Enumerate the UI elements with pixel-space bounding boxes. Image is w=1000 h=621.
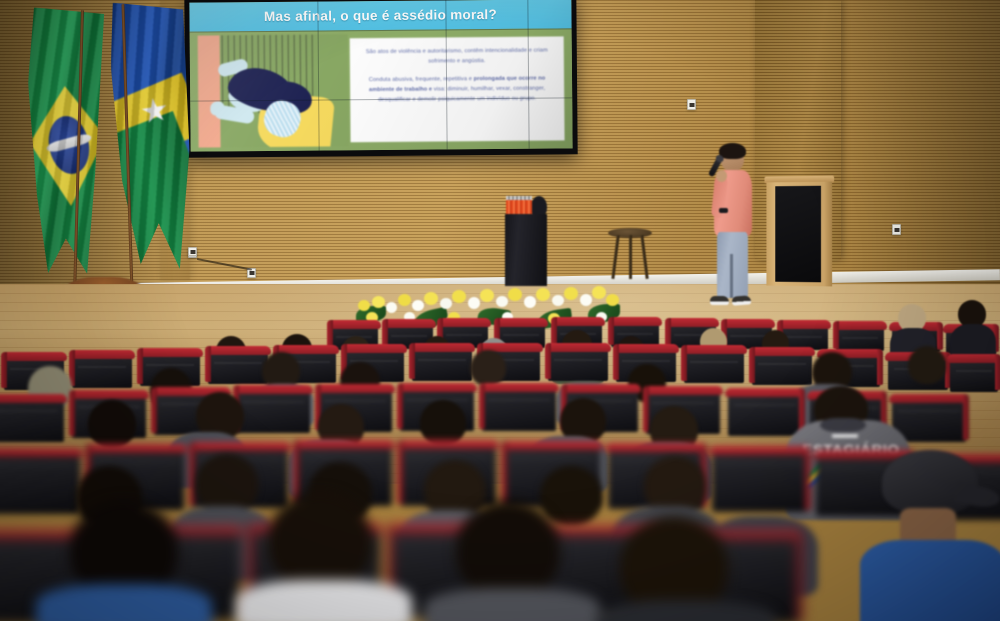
audience-torso: [36, 584, 212, 621]
presenter: [706, 146, 758, 308]
audience-blue-shirt: [860, 540, 1000, 621]
illustration-hand: [210, 101, 224, 115]
wall-outlet-plate-5: [687, 99, 696, 110]
presenter-watch: [719, 208, 728, 213]
audience-head: [908, 346, 946, 384]
flower: [580, 294, 592, 306]
slide-text-card: São atos de violência e autoritarismo, c…: [350, 36, 565, 142]
seat[interactable]: [684, 349, 744, 383]
auditorium-scene: Mas afinal, o que é assédio moral? S: [0, 0, 1000, 621]
audience-torso: [424, 588, 600, 621]
seat[interactable]: [712, 450, 808, 512]
flower: [552, 295, 564, 306]
audience-head: [88, 400, 136, 448]
flower: [440, 298, 452, 309]
audience-head: [196, 454, 258, 514]
seat[interactable]: [950, 358, 998, 392]
side-table-leg-3: [640, 235, 648, 279]
slide-paragraph-1: São atos de violência e autoritarismo, c…: [350, 36, 564, 68]
side-table-leg-2: [629, 235, 632, 279]
seat[interactable]: [752, 351, 812, 385]
flower: [412, 300, 424, 311]
wall-outlet-plate-7: [188, 247, 197, 256]
seat[interactable]: [236, 389, 310, 433]
flower: [386, 302, 397, 313]
flower: [508, 288, 522, 301]
podium-front-panel: [775, 186, 821, 283]
flower: [524, 296, 536, 308]
slide-body: São atos de violência e autoritarismo, c…: [190, 28, 573, 151]
round-side-table: [608, 228, 652, 280]
intern-collar: [820, 418, 866, 432]
slide-title-bar: Mas afinal, o que é assédio moral?: [189, 0, 571, 32]
wooden-podium: [766, 176, 832, 287]
seat[interactable]: [208, 350, 268, 384]
cabinet-body: [505, 214, 547, 286]
video-wall-display[interactable]: Mas afinal, o que é assédio moral? S: [184, 0, 577, 158]
flower: [606, 294, 619, 306]
wall-shadow-right: [850, 0, 1000, 290]
illustration-coral-strip: [198, 35, 221, 147]
seat[interactable]: [836, 325, 884, 351]
flower: [452, 290, 466, 303]
intern-small-logo: [832, 434, 858, 438]
seat[interactable]: [412, 347, 472, 381]
flower: [592, 286, 606, 299]
audience-head: [268, 492, 372, 590]
slide-screen: Mas afinal, o que é assédio moral? S: [189, 0, 572, 152]
audience-torso: [236, 580, 412, 621]
flower: [372, 296, 385, 308]
seat[interactable]: [0, 452, 80, 514]
presenter-shoe-left: [710, 296, 729, 305]
slide-paragraph-2-pre: Conduta abusiva, frequente, repetitiva e: [369, 76, 474, 83]
seat[interactable]: [72, 354, 132, 388]
flower: [398, 294, 411, 306]
audience-head: [470, 350, 506, 386]
slide-paragraph-2: Conduta abusiva, frequente, repetitiva e…: [350, 66, 564, 106]
flower: [480, 289, 494, 302]
cap-icon: [882, 450, 978, 514]
flower: [496, 296, 508, 307]
black-equipment-cabinet: [505, 196, 549, 286]
seat[interactable]: [548, 347, 608, 381]
slide-illustration: [198, 34, 349, 147]
side-table-leg-1: [611, 235, 619, 279]
seat[interactable]: [482, 387, 556, 431]
audience-head: [540, 466, 602, 526]
flower: [468, 297, 480, 309]
flower: [536, 288, 550, 301]
flower: [358, 300, 370, 311]
slide-title-text: Mas afinal, o que é assédio moral?: [264, 7, 497, 24]
flower: [424, 292, 438, 305]
presenter-pants: [717, 232, 748, 298]
audience-member-with-cap: [866, 456, 996, 621]
seat[interactable]: [0, 398, 64, 442]
audience-head: [456, 500, 560, 600]
flower: [564, 287, 578, 300]
presenter-hand: [716, 170, 727, 182]
wall-outlet-plate-6: [892, 224, 901, 235]
audience-torso: [596, 600, 776, 621]
presenter-shoe-right: [732, 295, 752, 305]
